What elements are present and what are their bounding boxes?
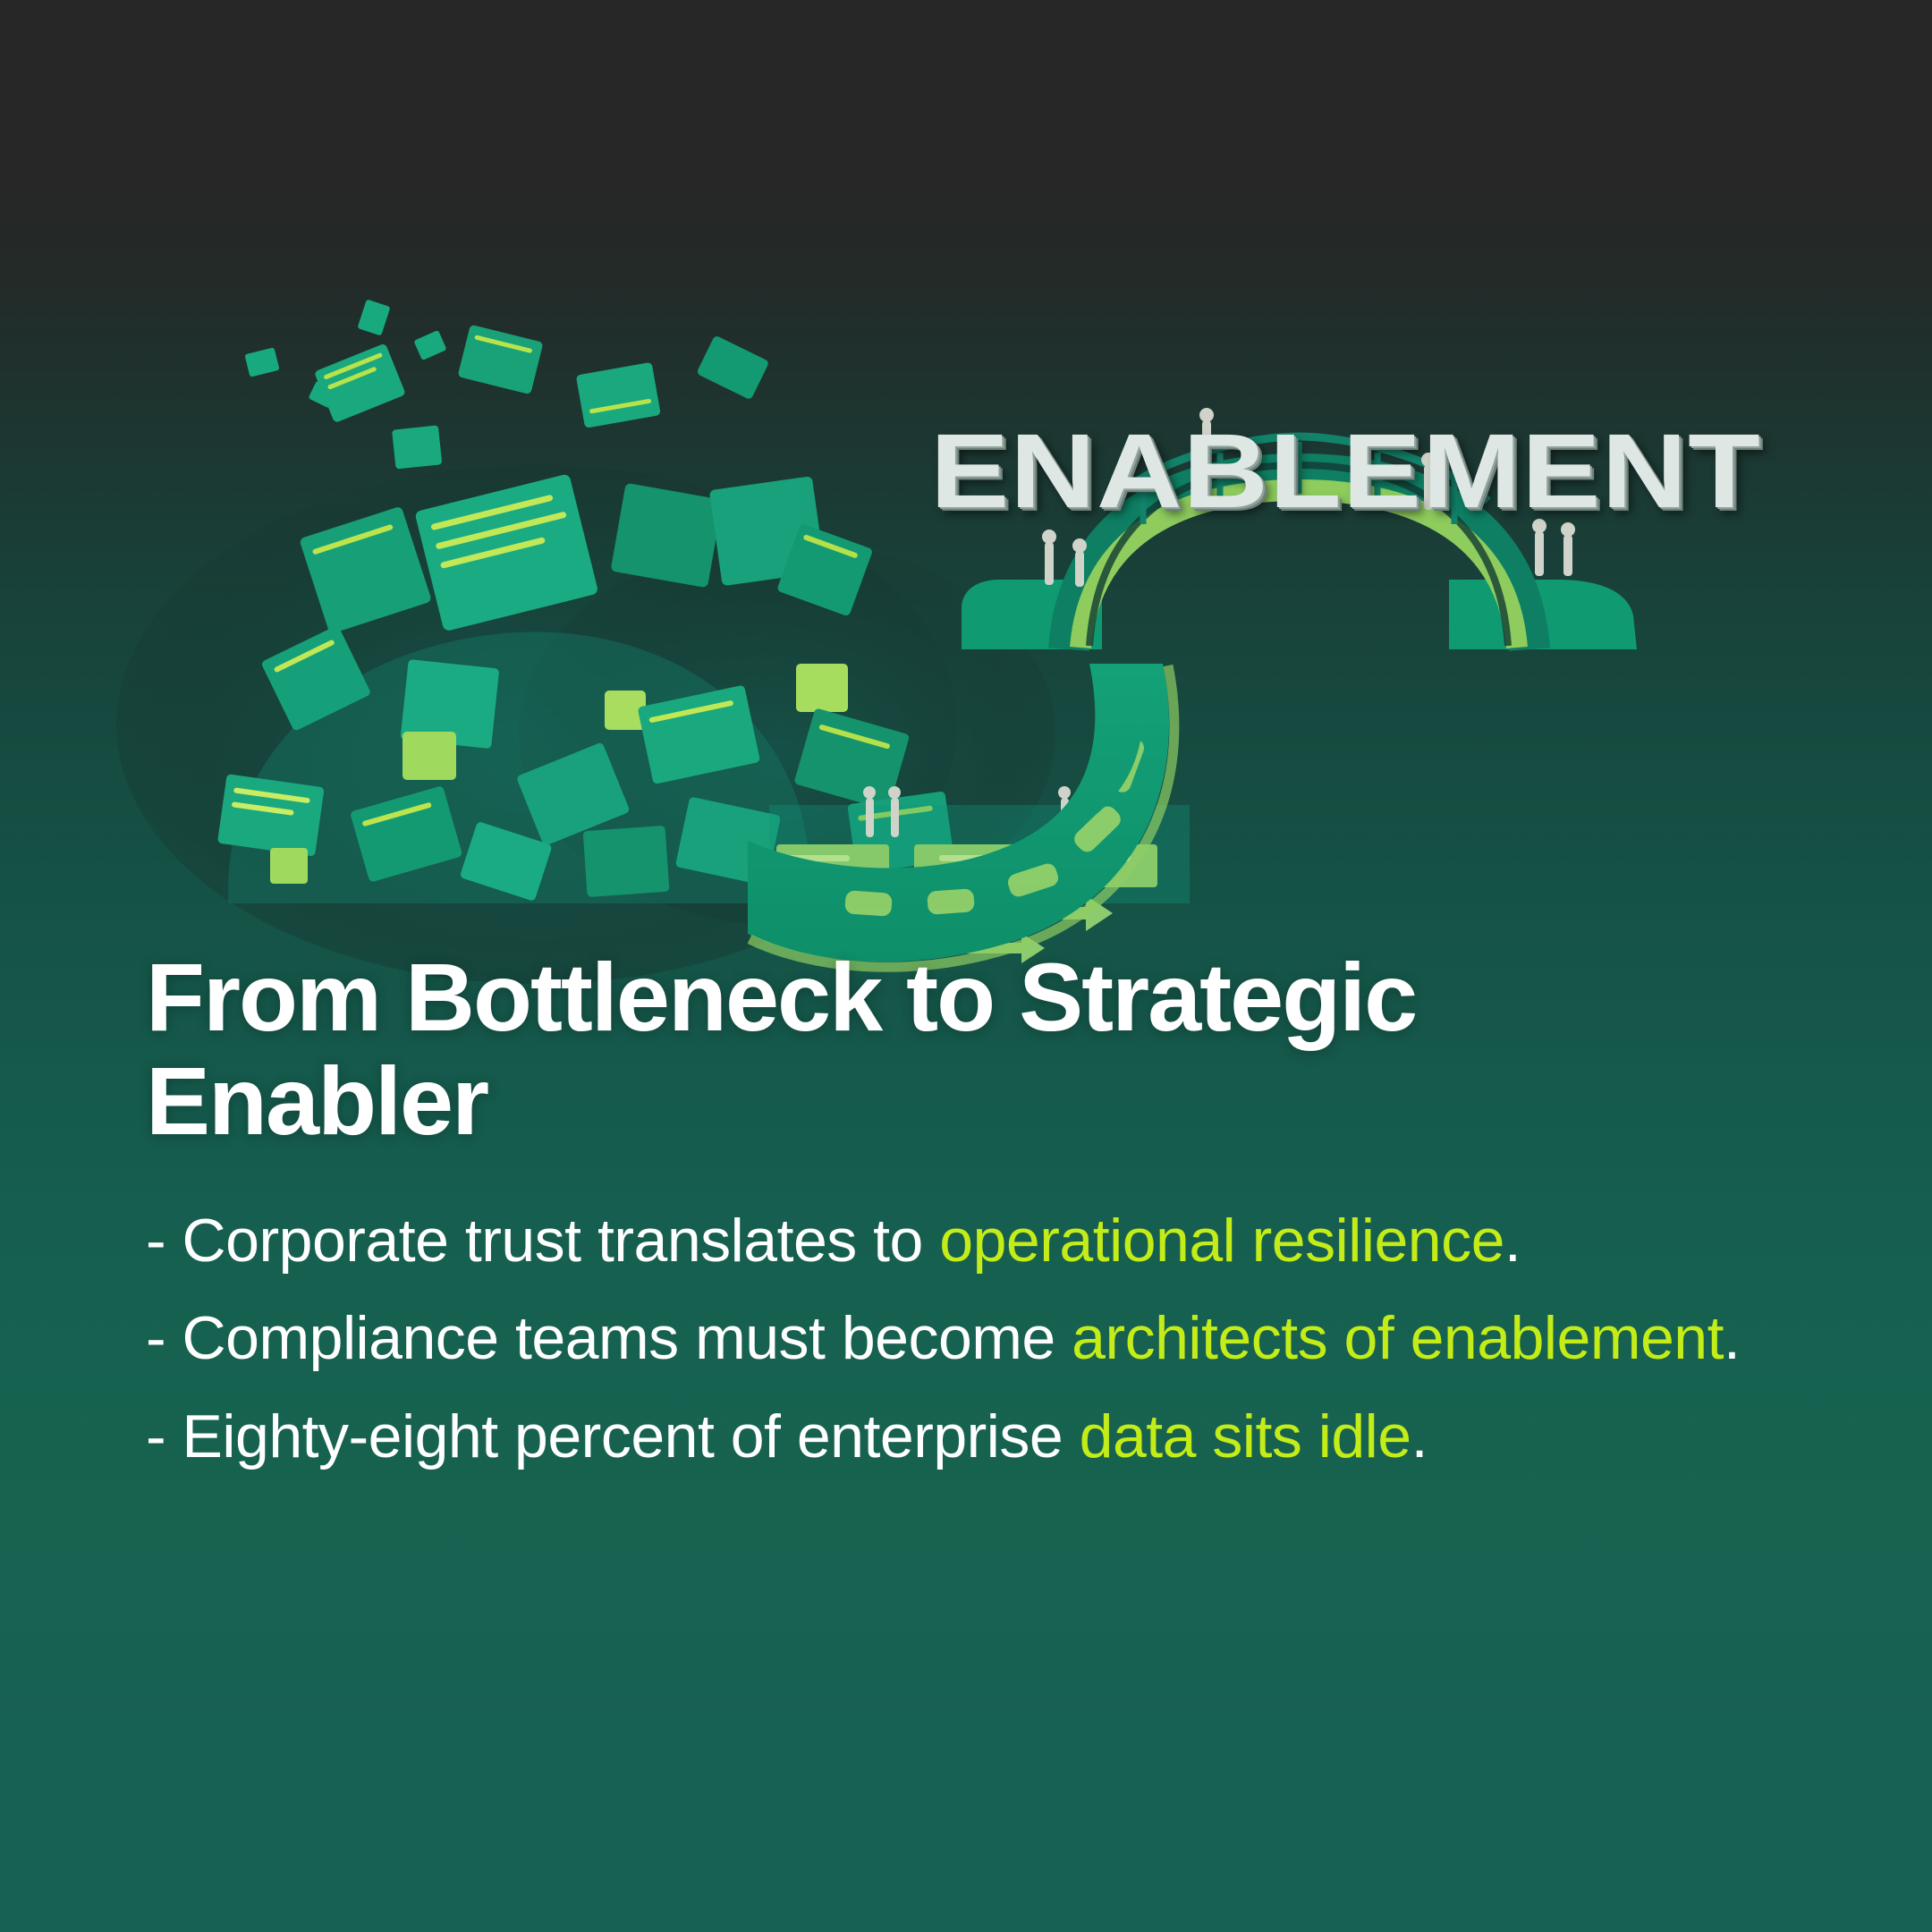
bullet-tail: . (1504, 1207, 1521, 1275)
bullet-tail: . (1724, 1304, 1740, 1372)
bullet-highlight: architects of enablement (1072, 1304, 1724, 1372)
bullet-list: - Corporate trust translates to operatio… (146, 1195, 1792, 1483)
bullet-lead: Compliance teams must become (165, 1304, 1072, 1372)
copy-block: From Bottleneck to Strategic Enabler - C… (146, 945, 1792, 1488)
bullet-lead: Corporate trust translates to (165, 1207, 939, 1275)
bullet-dash: - (146, 1402, 165, 1470)
list-item: - Corporate trust translates to operatio… (146, 1195, 1792, 1287)
bullet-dash: - (146, 1207, 165, 1275)
bullet-lead: Eighty-eight percent of enterprise (165, 1402, 1079, 1470)
bullet-highlight: data sits idle (1080, 1402, 1411, 1470)
bullet-highlight: operational resilience (939, 1207, 1504, 1275)
list-item: - Compliance teams must become architect… (146, 1292, 1792, 1385)
bullet-tail: . (1411, 1402, 1428, 1470)
list-item: - Eighty-eight percent of enterprise dat… (146, 1391, 1792, 1483)
bullet-dash: - (146, 1304, 165, 1372)
page-title: From Bottleneck to Strategic Enabler (146, 945, 1631, 1152)
slide-canvas: ENABLEMENT From Bottleneck to Strategic … (0, 0, 1932, 1932)
enablement-wordmark: ENABLEMENT (930, 413, 1772, 530)
